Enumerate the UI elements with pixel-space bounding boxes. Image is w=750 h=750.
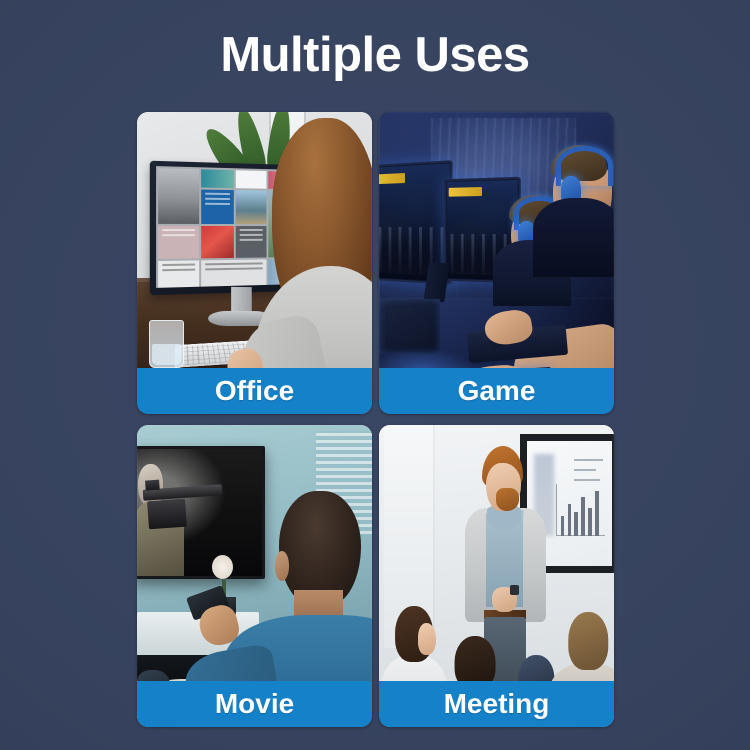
use-case-card-meeting[interactable]: Meeting [379, 425, 614, 727]
water-glass [149, 320, 184, 367]
use-case-label-movie[interactable]: Movie [137, 681, 372, 727]
use-case-label-office[interactable]: Office [137, 368, 372, 414]
page-title: Multiple Uses [0, 26, 750, 84]
use-case-card-game[interactable]: Game [379, 112, 614, 414]
gamer-foreground-person [553, 154, 612, 233]
use-case-grid: Office [137, 112, 614, 727]
use-case-label-meeting[interactable]: Meeting [379, 681, 614, 727]
use-case-label-game[interactable]: Game [379, 368, 614, 414]
screen-chart [556, 484, 605, 536]
use-case-card-office[interactable]: Office [137, 112, 372, 414]
pc-tower [379, 299, 440, 353]
poster-root: Multiple Uses [0, 0, 750, 750]
use-case-card-movie[interactable]: Movie [137, 425, 372, 727]
wall-mounted-tv [137, 446, 265, 579]
